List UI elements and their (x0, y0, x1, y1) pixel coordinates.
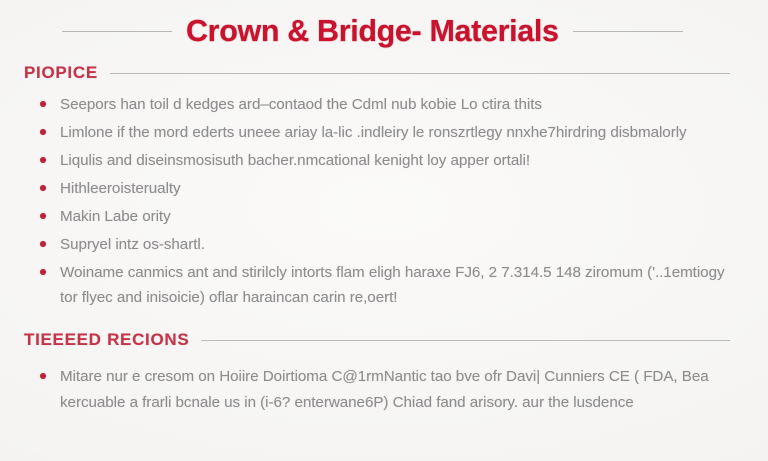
section-properties: PIOPICE Seepors han toil d kedges ard–co… (22, 63, 746, 310)
list-item-text: Woiname canmics ant and stirilcly intort… (60, 260, 726, 310)
slide-canvas: Crown & Bridge- Materials PIOPICE Seepor… (0, 0, 768, 461)
bullet-dot-icon (40, 269, 46, 275)
list-item-text: Makin Labe ority (60, 204, 726, 229)
list-item: Seepors han toil d kedges ard–contaod th… (36, 92, 726, 117)
section-treated-regions: TIEEEED RECIONS Mitare nur e cresom on H… (22, 330, 746, 416)
list-item-text: Seepors han toil d kedges ard–contaod th… (60, 92, 726, 117)
bullet-dot-icon (40, 101, 46, 107)
bullet-dot-icon (40, 373, 46, 379)
section-properties-rule (110, 73, 730, 74)
page-title: Crown & Bridge- Materials (186, 14, 559, 49)
bullet-dot-icon (40, 129, 46, 135)
title-row: Crown & Bridge- Materials (22, 0, 746, 49)
section-treated-regions-title: TIEEEED RECIONS (24, 330, 189, 350)
section-properties-title: PIOPICE (24, 63, 98, 83)
list-item-text: Supryel intz os-shartl. (60, 232, 726, 257)
list-item: Makin Labe ority (36, 204, 726, 229)
section-treated-regions-rule (201, 340, 730, 341)
title-rule-left (62, 31, 172, 32)
bullet-dot-icon (40, 213, 46, 219)
list-item: Hithleeroisterualty (36, 176, 726, 201)
title-rule-right (573, 31, 683, 32)
list-item: Mitare nur e cresom on Hoiire Doirtioma … (36, 364, 726, 416)
bullet-dot-icon (40, 157, 46, 163)
bullet-dot-icon (40, 241, 46, 247)
list-item: Woiname canmics ant and stirilcly intort… (36, 260, 726, 310)
list-item: Liqulis and diseinsmosisuth bacher.nmcat… (36, 148, 726, 173)
list-item-text: Mitare nur e cresom on Hoiire Doirtioma … (60, 364, 726, 416)
section-treated-regions-bullet-list: Mitare nur e cresom on Hoiire Doirtioma … (22, 364, 746, 416)
list-item: Supryel intz os-shartl. (36, 232, 726, 257)
section-properties-bullet-list: Seepors han toil d kedges ard–contaod th… (22, 92, 746, 310)
bullet-dot-icon (40, 185, 46, 191)
list-item-text: Limlone if the mord ederts uneee ariay l… (60, 120, 726, 145)
list-item: Limlone if the mord ederts uneee ariay l… (36, 120, 726, 145)
list-item-text: Hithleeroisterualty (60, 176, 726, 201)
section-properties-header: PIOPICE (22, 63, 746, 83)
list-item-text: Liqulis and diseinsmosisuth bacher.nmcat… (60, 148, 726, 173)
section-treated-regions-header: TIEEEED RECIONS (22, 330, 746, 350)
